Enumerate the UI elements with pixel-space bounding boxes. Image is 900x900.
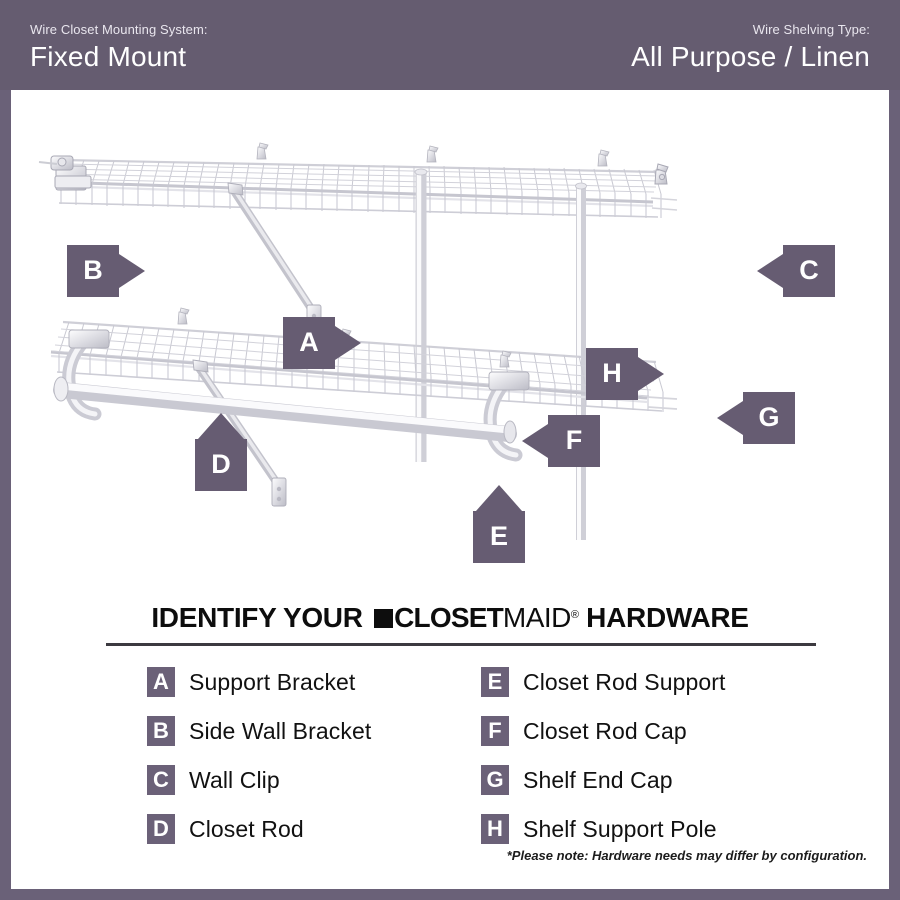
- legend-right-column: E Closet Rod Support F Closet Rod Cap G …: [481, 658, 726, 854]
- legend-item-a: A Support Bracket: [147, 658, 371, 706]
- legend-left-column: A Support Bracket B Side Wall Bracket C …: [147, 658, 371, 854]
- poster-frame: Wire Closet Mounting System: Fixed Mount…: [0, 0, 900, 900]
- closetmaid-logo-closet: CLOSET: [394, 602, 503, 633]
- header-right-group: Wire Shelving Type: All Purpose / Linen: [631, 22, 870, 74]
- wall-clip-part: [655, 164, 668, 184]
- legend-badge-f: F: [481, 716, 509, 746]
- legend-label-e: Closet Rod Support: [523, 669, 726, 696]
- wire-shelving-diagram: B A C H D E: [11, 90, 889, 600]
- legend-badge-d: D: [147, 814, 175, 844]
- header-left-group: Wire Closet Mounting System: Fixed Mount: [30, 22, 208, 74]
- legend-item-d: D Closet Rod: [147, 805, 371, 853]
- callout-b-arrow: [119, 254, 145, 288]
- callout-d[interactable]: D: [195, 439, 247, 491]
- legend-label-b: Side Wall Bracket: [189, 718, 371, 745]
- legend-label-d: Closet Rod: [189, 816, 304, 843]
- callout-a-arrow: [335, 326, 361, 360]
- callout-b[interactable]: B: [67, 245, 119, 297]
- legend-badge-b: B: [147, 716, 175, 746]
- closet-rod-cap-part: [504, 421, 516, 443]
- legend-item-f: F Closet Rod Cap: [481, 707, 726, 755]
- callout-a-letter: A: [299, 329, 319, 356]
- legend-badge-h: H: [481, 814, 509, 844]
- header-bar: Wire Closet Mounting System: Fixed Mount…: [0, 0, 900, 90]
- hardware-legend: IDENTIFY YOUR CLOSETMAID® HARDWARE A Sup…: [11, 595, 889, 889]
- callout-c[interactable]: C: [783, 245, 835, 297]
- legend-item-e: E Closet Rod Support: [481, 658, 726, 706]
- callout-g-letter: G: [758, 404, 779, 431]
- legend-title: IDENTIFY YOUR CLOSETMAID® HARDWARE: [11, 602, 889, 634]
- content-canvas: B A C H D E: [11, 90, 889, 889]
- callout-b-letter: B: [83, 257, 103, 284]
- legend-label-a: Support Bracket: [189, 669, 355, 696]
- legend-badge-e: E: [481, 667, 509, 697]
- callout-d-arrow: [198, 413, 244, 439]
- legend-label-h: Shelf Support Pole: [523, 816, 717, 843]
- callout-g-arrow: [717, 401, 743, 435]
- callout-f-letter: F: [566, 427, 583, 454]
- legend-item-g: G Shelf End Cap: [481, 756, 726, 804]
- legend-title-prefix: IDENTIFY YOUR: [151, 602, 370, 633]
- legend-footnote: *Please note: Hardware needs may differ …: [507, 848, 867, 863]
- callout-e-arrow: [476, 485, 522, 511]
- callout-h-arrow: [638, 357, 664, 391]
- legend-label-f: Closet Rod Cap: [523, 718, 687, 745]
- shelving-type-label: Wire Shelving Type:: [631, 22, 870, 38]
- registered-trademark-icon: ®: [571, 609, 579, 621]
- legend-item-b: B Side Wall Bracket: [147, 707, 371, 755]
- callout-c-letter: C: [799, 257, 819, 284]
- closetmaid-logo-square: [374, 609, 393, 628]
- callout-c-arrow: [757, 254, 783, 288]
- legend-badge-a: A: [147, 667, 175, 697]
- shelving-type-value: All Purpose / Linen: [631, 40, 870, 74]
- legend-label-g: Shelf End Cap: [523, 767, 673, 794]
- callout-d-letter: D: [211, 451, 231, 478]
- legend-badge-c: C: [147, 765, 175, 795]
- legend-item-h: H Shelf Support Pole: [481, 805, 726, 853]
- callout-g[interactable]: G: [743, 392, 795, 444]
- shelving-illustration: [11, 90, 889, 600]
- callout-h-letter: H: [602, 360, 622, 387]
- closetmaid-logo-maid: MAID: [503, 602, 571, 633]
- mounting-system-label: Wire Closet Mounting System:: [30, 22, 208, 38]
- top-shelf-clips: [257, 143, 609, 166]
- mounting-system-value: Fixed Mount: [30, 40, 208, 74]
- legend-title-suffix: HARDWARE: [579, 602, 749, 633]
- legend-label-c: Wall Clip: [189, 767, 280, 794]
- legend-divider: [106, 643, 816, 646]
- callout-h[interactable]: H: [586, 348, 638, 400]
- callout-e-letter: E: [490, 523, 508, 550]
- callout-a[interactable]: A: [283, 317, 335, 369]
- callout-f-arrow: [522, 424, 548, 458]
- legend-badge-g: G: [481, 765, 509, 795]
- legend-item-c: C Wall Clip: [147, 756, 371, 804]
- callout-f[interactable]: F: [548, 415, 600, 467]
- support-bracket-part: [228, 183, 321, 333]
- callout-e[interactable]: E: [473, 511, 525, 563]
